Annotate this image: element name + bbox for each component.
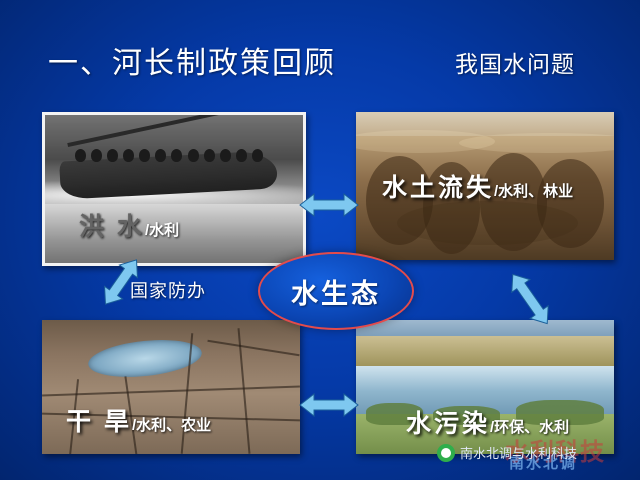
photo-caption-water-pollution: 水污染/环保、水利 bbox=[406, 404, 569, 440]
photo-soil-erosion: 水土流失/水利、林业 bbox=[356, 112, 614, 260]
drought-crack bbox=[208, 340, 300, 357]
center-node-label: 水生态 bbox=[291, 272, 381, 311]
soil-ridge bbox=[459, 133, 614, 154]
arrow-label-national-flood-office: 国家防办 bbox=[130, 277, 206, 303]
caption-tag-drought: /水利、农业 bbox=[132, 417, 211, 434]
page-title: 一、河长制政策回顾 bbox=[48, 38, 336, 82]
caption-main-drought: 干 旱 bbox=[66, 408, 132, 436]
arrow-drought-river bbox=[300, 392, 358, 418]
flood-people bbox=[71, 149, 272, 170]
caption-main-soil-erosion: 水土流失 bbox=[382, 174, 494, 202]
caption-tag-flood: /水利 bbox=[145, 222, 179, 239]
page-subtitle: 我国水问题 bbox=[455, 45, 575, 79]
arrow-soil-center bbox=[500, 268, 560, 330]
watermark-text: 南水北调与水利科技 bbox=[460, 443, 577, 462]
caption-main-flood: 洪 水 bbox=[79, 213, 145, 241]
soil-gully bbox=[397, 201, 578, 245]
photo-caption-soil-erosion: 水土流失/水利、林业 bbox=[382, 168, 573, 204]
photo-caption-drought: 干 旱/水利、农业 bbox=[66, 402, 211, 438]
photo-flood: 洪 水/水利 bbox=[42, 112, 306, 266]
watermark: 南水北调与水利科技 bbox=[437, 443, 577, 462]
slide-canvas: 一、河长制政策回顾 我国水问题 洪 水/水利 水土流失/水利、林业 bbox=[0, 0, 640, 480]
center-node-water-ecology: 水生态 bbox=[258, 252, 414, 330]
photo-drought: 干 旱/水利、农业 bbox=[42, 320, 300, 454]
flood-pole bbox=[67, 112, 219, 147]
photo-caption-flood: 洪 水/水利 bbox=[79, 207, 179, 243]
caption-main-water-pollution: 水污染 bbox=[406, 410, 490, 438]
caption-tag-water-pollution: /环保、水利 bbox=[490, 419, 569, 436]
circle-logo-icon bbox=[437, 444, 455, 462]
river-far-bank bbox=[356, 336, 614, 368]
arrow-flood-soil bbox=[300, 192, 358, 218]
drought-crack bbox=[42, 385, 300, 396]
caption-tag-soil-erosion: /水利、林业 bbox=[494, 183, 573, 200]
drought-pond bbox=[87, 336, 204, 383]
